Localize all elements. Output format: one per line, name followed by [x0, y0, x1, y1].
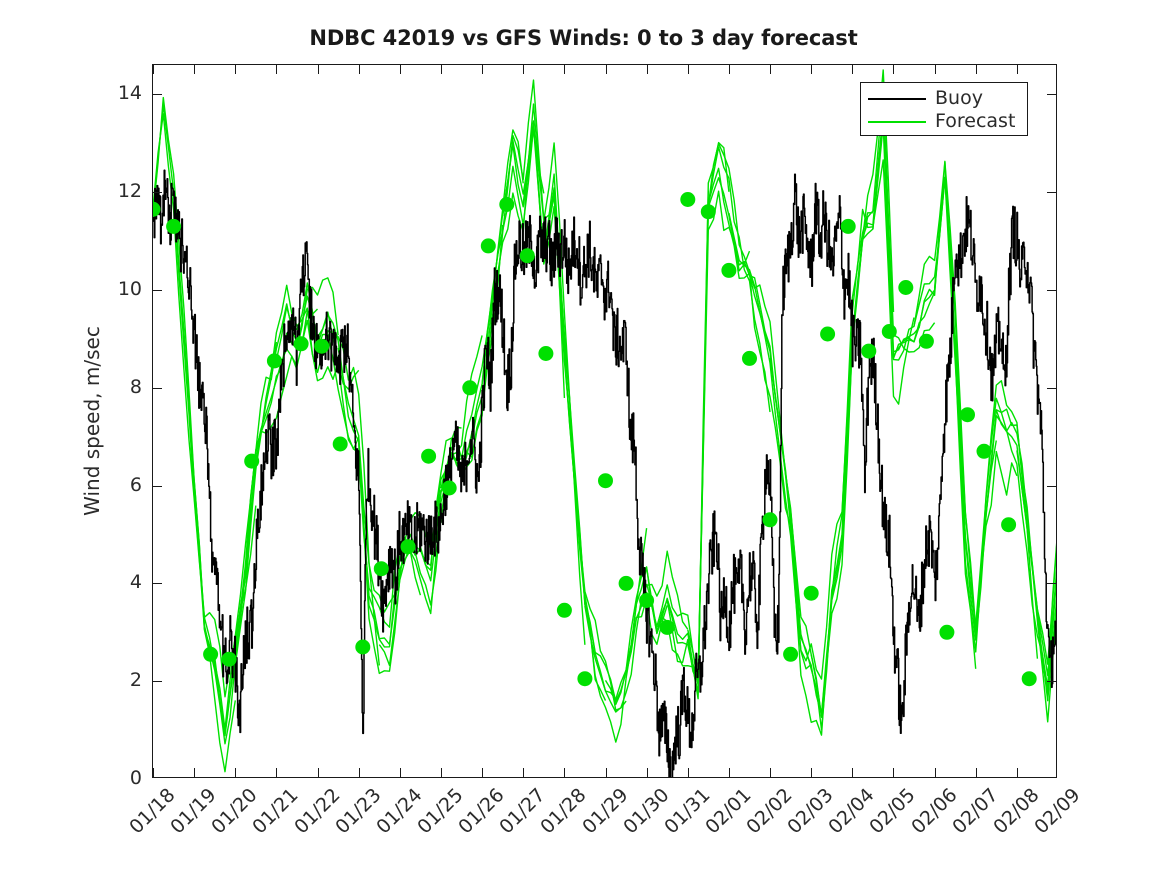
- forecast-data-point-marker: [499, 197, 514, 212]
- x-tick-mark: [893, 768, 894, 777]
- forecast-data-point-marker: [462, 380, 477, 395]
- x-tick-mark: [482, 65, 483, 74]
- x-tick-label: 01/30: [619, 784, 673, 838]
- x-tick-label: 01/19: [166, 784, 220, 838]
- x-tick-mark: [359, 65, 360, 74]
- forecast-data-point-marker: [1022, 671, 1037, 686]
- forecast-data-point-marker: [977, 444, 992, 459]
- x-tick-mark: [235, 65, 236, 74]
- x-tick-mark: [811, 65, 812, 74]
- x-tick-mark: [852, 65, 853, 74]
- x-tick-mark: [976, 768, 977, 777]
- forecast-line: [503, 121, 626, 710]
- x-tick-mark: [729, 768, 730, 777]
- forecast-data-point-marker: [442, 481, 457, 496]
- x-tick-label: 01/26: [454, 784, 508, 838]
- x-tick-label: 02/05: [866, 784, 920, 838]
- x-tick-label: 01/28: [537, 784, 591, 838]
- x-tick-label: 01/18: [125, 784, 179, 838]
- x-tick-mark: [276, 768, 277, 777]
- forecast-data-point-marker: [421, 449, 436, 464]
- forecast-data-point-marker: [401, 539, 416, 554]
- forecast-data-point-marker: [882, 324, 897, 339]
- x-tick-mark: [1017, 65, 1018, 74]
- forecast-line: [441, 80, 564, 488]
- y-tick-label: 12: [106, 180, 142, 202]
- forecast-data-point-marker: [919, 334, 934, 349]
- y-tick-mark: [1047, 388, 1056, 389]
- forecast-line: [811, 87, 934, 715]
- y-tick-mark: [153, 94, 162, 95]
- x-tick-label: 01/29: [578, 784, 632, 838]
- x-tick-label: 01/23: [331, 784, 385, 838]
- y-axis-tick-labels: 02468101214: [98, 64, 142, 778]
- forecast-data-point-marker: [166, 219, 181, 234]
- chart-title: NDBC 42019 vs GFS Winds: 0 to 3 day fore…: [0, 26, 1167, 50]
- x-tick-mark: [564, 65, 565, 74]
- forecast-data-point-marker: [742, 351, 757, 366]
- y-tick-label: 8: [106, 376, 142, 398]
- x-tick-label: 02/02: [742, 784, 796, 838]
- forecast-line: [564, 352, 687, 712]
- x-tick-label: 02/01: [701, 784, 755, 838]
- forecast-data-point-marker: [294, 336, 309, 351]
- forecast-data-point-marker: [1001, 517, 1016, 532]
- y-tick-mark: [1047, 192, 1056, 193]
- x-tick-label: 01/31: [660, 784, 714, 838]
- forecast-data-point-marker: [680, 192, 695, 207]
- forecast-data-point-marker: [861, 344, 876, 359]
- forecast-data-point-marker: [355, 640, 370, 655]
- chart-legend: Buoy Forecast: [860, 82, 1028, 136]
- legend-label-buoy: Buoy: [935, 89, 983, 108]
- forecast-data-point-marker: [538, 346, 553, 361]
- x-tick-mark: [523, 768, 524, 777]
- forecast-data-point-marker: [841, 219, 856, 234]
- x-tick-mark: [194, 768, 195, 777]
- forecast-line: [379, 225, 502, 666]
- forecast-data-point-marker: [820, 327, 835, 342]
- legend-item-forecast: Forecast: [861, 110, 1027, 133]
- forecast-data-point-marker: [374, 561, 389, 576]
- x-tick-mark: [606, 65, 607, 74]
- x-tick-mark: [400, 768, 401, 777]
- x-tick-mark: [893, 65, 894, 74]
- x-tick-mark: [688, 65, 689, 74]
- y-tick-mark: [1047, 94, 1056, 95]
- forecast-data-point-marker: [598, 473, 613, 488]
- forecast-data-point-marker: [639, 593, 654, 608]
- x-tick-mark: [153, 768, 154, 777]
- y-tick-label: 4: [106, 571, 142, 593]
- x-tick-mark: [441, 768, 442, 777]
- forecast-data-point-marker: [557, 603, 572, 618]
- x-tick-mark: [441, 65, 442, 74]
- x-tick-mark: [153, 65, 154, 74]
- y-tick-mark: [153, 290, 162, 291]
- y-tick-label: 2: [106, 669, 142, 691]
- chart-figure: NDBC 42019 vs GFS Winds: 0 to 3 day fore…: [0, 0, 1167, 875]
- x-tick-mark: [1017, 768, 1018, 777]
- y-tick-mark: [153, 583, 162, 584]
- x-tick-mark: [770, 768, 771, 777]
- x-tick-label: 01/22: [290, 784, 344, 838]
- x-tick-label: 01/21: [249, 784, 303, 838]
- forecast-data-point-marker: [267, 353, 282, 368]
- x-tick-label: 01/27: [495, 784, 549, 838]
- forecast-data-point-marker: [898, 280, 913, 295]
- forecast-series-group: [153, 70, 1057, 772]
- y-tick-label: 6: [106, 474, 142, 496]
- x-tick-mark: [606, 768, 607, 777]
- x-tick-label: 02/06: [907, 784, 961, 838]
- x-tick-mark: [482, 768, 483, 777]
- y-tick-mark: [153, 192, 162, 193]
- x-tick-mark: [523, 65, 524, 74]
- x-tick-label: 01/25: [413, 784, 467, 838]
- x-tick-label: 02/03: [783, 784, 837, 838]
- y-tick-label: 14: [106, 82, 142, 104]
- forecast-line: [338, 348, 461, 645]
- y-tick-mark: [1047, 486, 1056, 487]
- forecast-data-point-marker: [619, 576, 634, 591]
- y-tick-mark: [1047, 583, 1056, 584]
- x-tick-label: 02/07: [948, 784, 1002, 838]
- legend-label-forecast: Forecast: [935, 112, 1015, 131]
- x-tick-label: 01/20: [208, 784, 262, 838]
- forecast-data-point-marker: [222, 652, 237, 667]
- forecast-data-point-marker: [520, 248, 535, 263]
- x-tick-label: 02/08: [989, 784, 1043, 838]
- legend-line-forecast-icon: [868, 121, 926, 123]
- x-tick-mark: [811, 768, 812, 777]
- x-tick-mark: [318, 65, 319, 74]
- x-tick-label: 02/09: [1030, 784, 1084, 838]
- x-tick-mark: [400, 65, 401, 74]
- forecast-data-point-marker: [701, 204, 716, 219]
- plot-svg: [153, 65, 1057, 778]
- x-tick-mark: [235, 768, 236, 777]
- y-tick-label: 0: [106, 767, 142, 789]
- forecast-data-point-marker: [960, 407, 975, 422]
- forecast-data-point-marker: [939, 625, 954, 640]
- x-tick-mark: [647, 65, 648, 74]
- forecast-data-point-marker: [333, 437, 348, 452]
- x-tick-mark: [318, 768, 319, 777]
- x-tick-mark: [359, 768, 360, 777]
- forecast-data-point-marker: [481, 238, 496, 253]
- y-tick-mark: [153, 486, 162, 487]
- forecast-data-point-marker: [804, 586, 819, 601]
- legend-item-buoy: Buoy: [861, 87, 1027, 110]
- forecast-data-point-marker: [314, 339, 329, 354]
- forecast-data-point-marker: [763, 512, 778, 527]
- forecast-line: [359, 335, 482, 647]
- y-tick-mark: [1047, 290, 1056, 291]
- forecast-data-point-marker: [721, 263, 736, 278]
- forecast-data-point-marker: [244, 454, 259, 469]
- plot-area: [152, 64, 1057, 778]
- x-axis-tick-labels: 01/1801/1901/2001/2101/2201/2301/2401/25…: [152, 778, 1057, 873]
- x-tick-mark: [194, 65, 195, 74]
- x-tick-mark: [935, 768, 936, 777]
- x-tick-mark: [770, 65, 771, 74]
- forecast-data-point-marker: [783, 647, 798, 662]
- x-tick-mark: [647, 768, 648, 777]
- x-tick-mark: [276, 65, 277, 74]
- x-tick-mark: [935, 65, 936, 74]
- x-tick-label: 01/24: [372, 784, 426, 838]
- x-tick-mark: [688, 768, 689, 777]
- legend-line-buoy-icon: [868, 98, 926, 100]
- y-tick-mark: [153, 388, 162, 389]
- x-tick-mark: [564, 768, 565, 777]
- forecast-data-point-marker: [203, 647, 218, 662]
- x-tick-label: 02/04: [825, 784, 879, 838]
- y-tick-mark: [153, 681, 162, 682]
- forecast-line: [420, 104, 543, 581]
- y-tick-mark: [1047, 681, 1056, 682]
- forecast-data-point-marker: [660, 620, 675, 635]
- x-tick-mark: [852, 768, 853, 777]
- x-tick-mark: [729, 65, 730, 74]
- x-tick-mark: [976, 65, 977, 74]
- forecast-data-point-marker: [577, 671, 592, 686]
- y-tick-label: 10: [106, 278, 142, 300]
